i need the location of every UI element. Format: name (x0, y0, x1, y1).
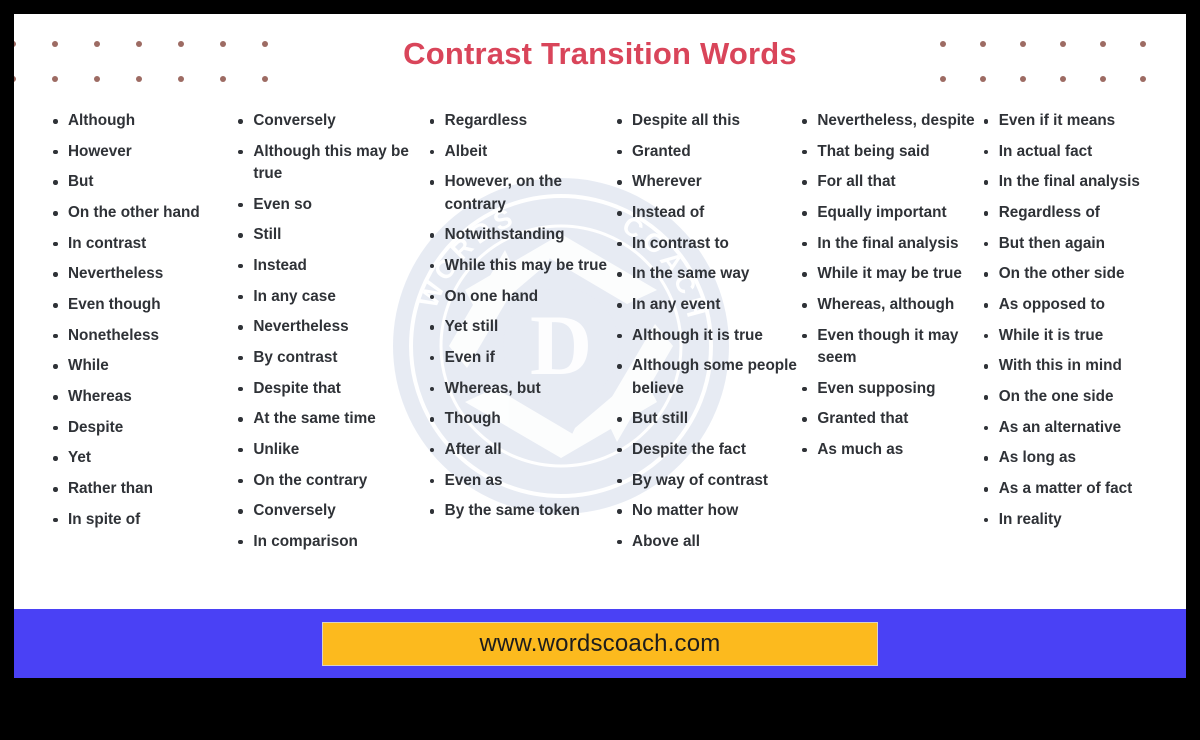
list-item: In any case (235, 286, 426, 308)
list-item: While it is true (981, 325, 1180, 347)
list-item: Whereas (50, 386, 235, 408)
list-item: But still (614, 408, 799, 430)
list-item: In contrast (50, 233, 235, 255)
list-item: Conversely (235, 110, 426, 132)
list-item: On one hand (427, 286, 614, 308)
word-list-3: Regardless Albeit However, on the contra… (427, 110, 614, 522)
list-item: On the other hand (50, 202, 235, 224)
list-item: Even supposing (799, 378, 980, 400)
list-item: But then again (981, 233, 1180, 255)
word-list-1: Although However But On the other hand I… (50, 110, 235, 531)
list-item: Wherever (614, 171, 799, 193)
list-item: By contrast (235, 347, 426, 369)
word-column-5: Nevertheless, despite That being said Fo… (799, 110, 980, 562)
word-column-4: Despite all this Granted Wherever Instea… (614, 110, 799, 562)
word-list-6: Even if it means In actual fact In the f… (981, 110, 1180, 531)
list-item: Despite all this (614, 110, 799, 132)
word-column-6: Even if it means In actual fact In the f… (981, 110, 1180, 562)
list-item: On the one side (981, 386, 1180, 408)
list-item: Even if it means (981, 110, 1180, 132)
word-column-3: Regardless Albeit However, on the contra… (427, 110, 614, 562)
list-item: Although it is true (614, 325, 799, 347)
list-item: Yet (50, 447, 235, 469)
list-item: Although some people believe (614, 355, 799, 399)
list-item: Although this may be true (235, 141, 426, 185)
list-item: In contrast to (614, 233, 799, 255)
list-item: As an alternative (981, 417, 1180, 439)
dot (136, 76, 142, 82)
dot (262, 76, 268, 82)
dot (52, 76, 58, 82)
list-item: Instead of (614, 202, 799, 224)
dot (1140, 76, 1146, 82)
list-item: Nevertheless (235, 316, 426, 338)
list-item: By the same token (427, 500, 614, 522)
list-item: In the final analysis (981, 171, 1180, 193)
list-item: Even as (427, 470, 614, 492)
list-item: In any event (614, 294, 799, 316)
list-item: Regardless (427, 110, 614, 132)
list-item: With this in mind (981, 355, 1180, 377)
list-item: On the contrary (235, 470, 426, 492)
list-item: Despite (50, 417, 235, 439)
word-list-2: Conversely Although this may be true Eve… (235, 110, 426, 553)
list-item: Notwithstanding (427, 224, 614, 246)
list-item: Despite the fact (614, 439, 799, 461)
list-item: As long as (981, 447, 1180, 469)
list-item: By way of contrast (614, 470, 799, 492)
list-item: Albeit (427, 141, 614, 163)
list-item: On the other side (981, 263, 1180, 285)
list-item: In spite of (50, 509, 235, 531)
list-item: Granted that (799, 408, 980, 430)
list-item: Yet still (427, 316, 614, 338)
list-item: Conversely (235, 500, 426, 522)
dot (1060, 76, 1066, 82)
list-item: As a matter of fact (981, 478, 1180, 500)
word-column-2: Conversely Although this may be true Eve… (235, 110, 426, 562)
word-columns: Although However But On the other hand I… (50, 110, 1180, 562)
dot (940, 76, 946, 82)
list-item: In comparison (235, 531, 426, 553)
list-item: Although (50, 110, 235, 132)
list-item: Nonetheless (50, 325, 235, 347)
list-item: Instead (235, 255, 426, 277)
list-item: In the same way (614, 263, 799, 285)
list-item: Above all (614, 531, 799, 553)
poster-canvas: D WORDS COACH Contrast Transition Words … (14, 14, 1186, 678)
word-list-4: Despite all this Granted Wherever Instea… (614, 110, 799, 553)
list-item: However, on the contrary (427, 171, 614, 215)
page-title: Contrast Transition Words (14, 36, 1186, 72)
list-item: Though (427, 408, 614, 430)
dot (220, 76, 226, 82)
list-item: As much as (799, 439, 980, 461)
list-item: Equally important (799, 202, 980, 224)
dot (14, 76, 16, 82)
list-item: Granted (614, 141, 799, 163)
list-item: Even though (50, 294, 235, 316)
list-item: Whereas, but (427, 378, 614, 400)
word-column-1: Although However But On the other hand I… (50, 110, 235, 562)
list-item: Nevertheless (50, 263, 235, 285)
list-item: While (50, 355, 235, 377)
list-item: Even if (427, 347, 614, 369)
website-link-button[interactable]: www.wordscoach.com (322, 622, 878, 666)
list-item: Nevertheless, despite (799, 110, 980, 132)
list-item: But (50, 171, 235, 193)
dot (980, 76, 986, 82)
list-item: Despite that (235, 378, 426, 400)
list-item: That being said (799, 141, 980, 163)
list-item: Even so (235, 194, 426, 216)
list-item: While this may be true (427, 255, 614, 277)
list-item: As opposed to (981, 294, 1180, 316)
list-item: No matter how (614, 500, 799, 522)
footer-bar: www.wordscoach.com (14, 609, 1186, 678)
list-item: Still (235, 224, 426, 246)
list-item: Whereas, although (799, 294, 980, 316)
dot (94, 76, 100, 82)
dot (178, 76, 184, 82)
list-item: While it may be true (799, 263, 980, 285)
list-item: For all that (799, 171, 980, 193)
list-item: Regardless of (981, 202, 1180, 224)
list-item: In reality (981, 509, 1180, 531)
list-item: After all (427, 439, 614, 461)
dot (1020, 76, 1026, 82)
list-item: Unlike (235, 439, 426, 461)
list-item: However (50, 141, 235, 163)
list-item: At the same time (235, 408, 426, 430)
list-item: In actual fact (981, 141, 1180, 163)
list-item: In the final analysis (799, 233, 980, 255)
list-item: Rather than (50, 478, 235, 500)
word-list-5: Nevertheless, despite That being said Fo… (799, 110, 980, 461)
dot (1100, 76, 1106, 82)
list-item: Even though it may seem (799, 325, 980, 369)
